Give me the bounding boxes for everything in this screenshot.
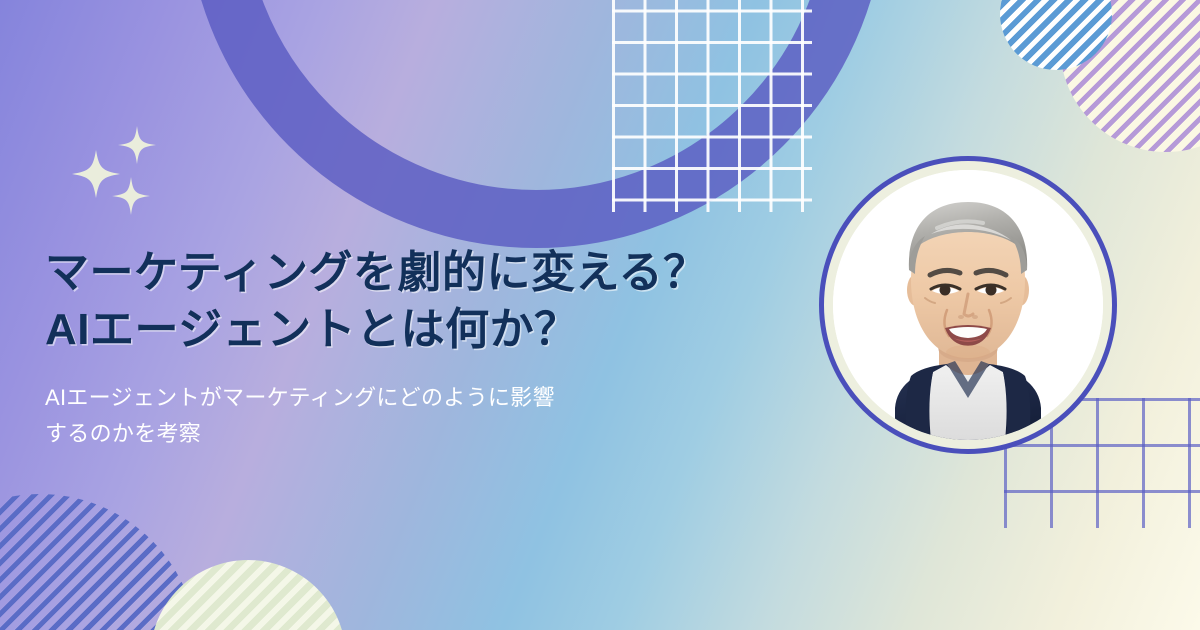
striped-circle-blue <box>1000 0 1112 70</box>
page-title: マーケティングを劇的に変える？ AIエージェントとは何か？ <box>45 244 785 358</box>
avatar-photo-frame <box>833 170 1103 440</box>
striped-circle-purple <box>1060 0 1200 152</box>
sparkle-cluster-icon <box>58 110 178 230</box>
striped-circle-indigo <box>0 494 198 630</box>
striped-circle-green <box>150 560 346 630</box>
page-subtitle: AIエージェントがマーケティングにどのように影響 するのかを考察 <box>45 380 785 451</box>
avatar <box>819 156 1117 454</box>
ogp-banner: マーケティングを劇的に変える？ AIエージェントとは何か？ AIエージェントがマ… <box>0 0 1200 630</box>
arc-ring-shape <box>186 0 886 248</box>
text-block: マーケティングを劇的に変える？ AIエージェントとは何か？ AIエージェントがマ… <box>45 244 785 452</box>
grid-pattern-top <box>612 0 812 212</box>
portrait-photo <box>833 170 1103 440</box>
